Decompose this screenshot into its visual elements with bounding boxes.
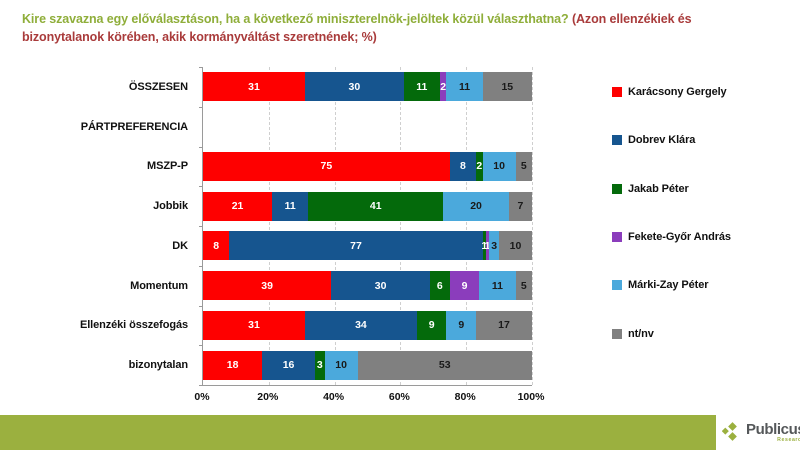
bar-track: 211141207 (203, 192, 532, 221)
axis-tick (199, 107, 203, 108)
logo-wordmark: Publicus Research (746, 422, 800, 443)
bar-segment: 34 (305, 311, 417, 340)
bar-track (203, 112, 532, 141)
bar-track: 31301121115 (203, 72, 532, 101)
bar-segment: 10 (483, 152, 516, 181)
category-label: Momentum (60, 266, 195, 306)
bar-segment: 8 (203, 231, 229, 260)
legend-label: Karácsony Gergely (628, 86, 727, 98)
bar-segment: 21 (203, 192, 272, 221)
bar-row: 393069115 (203, 266, 532, 306)
bar-row (203, 107, 532, 147)
category-label: bizonytalan (60, 345, 195, 385)
publicus-research-logo: Publicus Research (722, 416, 800, 450)
bar-segment: 39 (203, 271, 331, 300)
axis-tick (199, 385, 203, 386)
bar-segment: 6 (430, 271, 450, 300)
bar-segment: 20 (443, 192, 509, 221)
bar-track: 393069115 (203, 271, 532, 300)
legend-swatch (612, 232, 622, 242)
legend-swatch (612, 184, 622, 194)
bar-segment: 11 (446, 72, 482, 101)
axis-tick (199, 306, 203, 307)
bar-row: 31349917 (203, 306, 532, 346)
x-axis-line (202, 385, 532, 386)
bar-segment: 11 (404, 72, 440, 101)
legend-item: nt/nv (612, 310, 792, 358)
category-label: DK (60, 226, 195, 266)
page-title-part1: Kire szavazna egy előválasztáson, ha a k… (22, 12, 572, 26)
footer-band (0, 415, 716, 450)
axis-tick (199, 186, 203, 187)
bar-segment: 9 (417, 311, 447, 340)
legend-label: Jakab Péter (628, 183, 689, 195)
page-title: Kire szavazna egy előválasztáson, ha a k… (22, 10, 762, 46)
legend-item: Fekete-Győr András (612, 213, 792, 261)
bar-segment: 11 (272, 192, 308, 221)
bar-row: 7582105 (203, 147, 532, 187)
legend-label: nt/nv (628, 328, 654, 340)
x-tick-label: 60% (389, 391, 410, 403)
bar-segment: 10 (499, 231, 532, 260)
bar-segment: 53 (358, 351, 532, 380)
bar-segment: 18 (203, 351, 262, 380)
x-axis-tick-labels: 0%20%40%60%80%100% (202, 391, 531, 411)
axis-tick (199, 147, 203, 148)
bar-segment: 5 (516, 152, 532, 181)
legend-item: Márki-Zay Péter (612, 261, 792, 309)
x-tick-label: 100% (518, 391, 545, 403)
legend-label: Dobrev Klára (628, 134, 695, 146)
bar-row: 211141207 (203, 186, 532, 226)
legend-label: Fekete-Győr András (628, 231, 731, 243)
plot-area: 3130112111575821052111412078771131039306… (202, 67, 532, 385)
category-axis-labels: ÖSSZESENPÁRTPREFERENCIAMSZP-PJobbikDKMom… (60, 67, 195, 385)
bar-segment: 2 (476, 152, 483, 181)
category-label: Ellenzéki összefogás (60, 306, 195, 346)
bar-row: 31301121115 (203, 67, 532, 107)
x-tick-label: 40% (323, 391, 344, 403)
category-label: PÁRTPREFERENCIA (60, 107, 195, 147)
axis-tick (199, 266, 203, 267)
bar-segment: 17 (476, 311, 532, 340)
bar-segment: 16 (262, 351, 315, 380)
axis-tick (199, 226, 203, 227)
bar-segment: 30 (305, 72, 404, 101)
bar-segment: 30 (331, 271, 430, 300)
bar-row: 181631053 (203, 345, 532, 385)
bar-segment: 8 (450, 152, 476, 181)
bar-segment: 10 (325, 351, 358, 380)
diamond-logo-icon (722, 422, 742, 444)
category-label: ÖSSZESEN (60, 67, 195, 107)
bar-segment: 41 (308, 192, 443, 221)
legend-swatch (612, 280, 622, 290)
logo-subtitle: Research (746, 438, 800, 443)
x-tick-label: 20% (257, 391, 278, 403)
bar-segment: 2 (440, 72, 447, 101)
axis-tick (199, 67, 203, 68)
bar-segment: 5 (516, 271, 532, 300)
legend-swatch (612, 329, 622, 339)
x-tick-label: 0% (194, 391, 209, 403)
logo-name: Publicus (746, 422, 800, 437)
legend-item: Karácsony Gergely (612, 68, 792, 116)
legend-label: Márki-Zay Péter (628, 279, 708, 291)
bar-segment: 77 (229, 231, 482, 260)
bar-series-container: 3130112111575821052111412078771131039306… (203, 67, 532, 385)
bar-segment: 11 (479, 271, 515, 300)
bar-row: 87711310 (203, 226, 532, 266)
bar-segment: 9 (446, 311, 476, 340)
bar-track: 31349917 (203, 311, 532, 340)
bar-segment: 9 (450, 271, 480, 300)
bar-track: 87711310 (203, 231, 532, 260)
bar-segment: 75 (203, 152, 450, 181)
legend-item: Dobrev Klára (612, 116, 792, 164)
bar-segment: 31 (203, 311, 305, 340)
bar-segment: 7 (509, 192, 532, 221)
bar-track: 181631053 (203, 351, 532, 380)
category-label: Jobbik (60, 186, 195, 226)
legend-swatch (612, 135, 622, 145)
category-label: MSZP-P (60, 147, 195, 187)
x-tick-label: 80% (455, 391, 476, 403)
bar-segment: 31 (203, 72, 305, 101)
bar-segment: 3 (489, 231, 499, 260)
bar-track: 7582105 (203, 152, 532, 181)
bar-segment: 3 (315, 351, 325, 380)
legend-item: Jakab Péter (612, 165, 792, 213)
axis-tick (199, 345, 203, 346)
bar-segment: 15 (483, 72, 532, 101)
legend-swatch (612, 87, 622, 97)
chart-legend: Karácsony GergelyDobrev KláraJakab Péter… (612, 68, 792, 358)
gridline (532, 67, 533, 385)
